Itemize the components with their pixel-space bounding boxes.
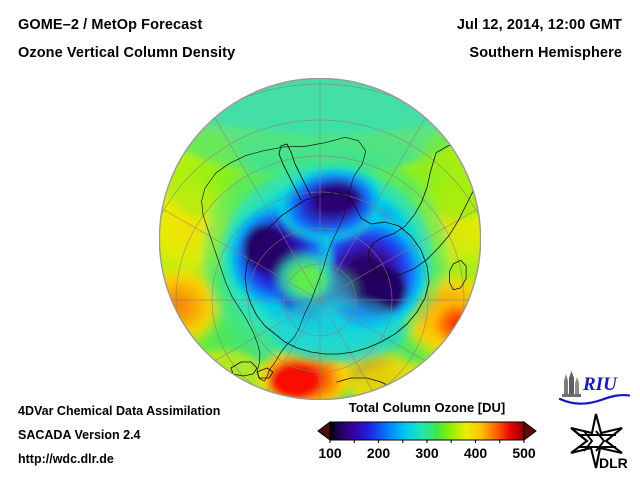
figure-title-line2: Ozone Vertical Column Density [18,45,235,61]
credit-line-url: http://wdc.dlr.de [18,452,114,466]
colorbar-tick-4: 500 [512,445,535,461]
colorbar-tick-labels: 100 200 300 400 500 [302,445,552,467]
credit-line-version: SACADA Version 2.4 [18,428,141,442]
riu-towers-icon [562,371,581,397]
colorbar-tick-2: 300 [415,445,438,461]
colorbar-ramp [302,419,552,443]
riu-wordmark: RIU [582,374,618,395]
credit-line-assimilation: 4DVar Chemical Data Assimilation [18,404,220,418]
riu-logo: RIU [557,371,631,405]
figure-title-line1: GOME–2 / MetOp Forecast [18,17,202,33]
ozone-forecast-figure: GOME–2 / MetOp Forecast Ozone Vertical C… [0,0,640,480]
figure-datetime: Jul 12, 2014, 12:00 GMT [457,17,622,33]
colorbar-title: Total Column Ozone [DU] [302,400,552,415]
colorbar-over-cap [524,422,536,440]
figure-region: Southern Hemisphere [469,45,622,61]
ozone-field [159,78,481,400]
colorbar-tick-1: 200 [367,445,390,461]
colorbar-tick-3: 400 [464,445,487,461]
ozone-map-globe [159,78,481,400]
dlr-wordmark: DLR [599,455,628,471]
colorbar-under-cap [318,422,330,440]
colorbar-tick-0: 100 [318,445,341,461]
colorbar: Total Column Ozone [DU] [302,400,552,472]
dlr-logo: DLR [566,413,628,471]
